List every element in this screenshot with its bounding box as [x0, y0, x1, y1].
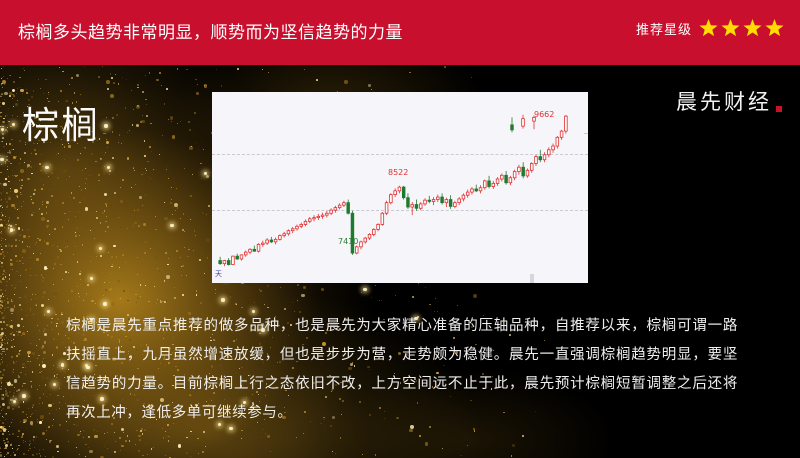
brand-dot-icon [776, 106, 782, 112]
candlestick-series [212, 92, 588, 283]
body-paragraph: 棕榈是晨先重点推荐的做多品种，也是晨先为大家精心准备的压轴品种，自推荐以来，棕榈… [66, 312, 738, 428]
page-title: 棕榈 [22, 95, 100, 149]
brand-name: 晨先财经 [676, 86, 772, 116]
rating-stars [699, 19, 784, 38]
star-icon [765, 19, 784, 38]
star-icon [721, 19, 740, 38]
chart-annotation-mid: 8522 [388, 168, 408, 177]
banner-title: 棕榈多头趋势非常明显，顺势而为坚信趋势的力量 [18, 18, 403, 43]
chart-axis-label: 天 [215, 269, 222, 279]
rating-label: 推荐星级 [636, 19, 692, 38]
brand-logo: 晨先财经 [676, 86, 782, 116]
chart-annotation-high: 9662 [534, 110, 554, 119]
star-icon [699, 19, 718, 38]
header-banner: 棕榈多头趋势非常明显，顺势而为坚信趋势的力量 推荐星级 [0, 0, 800, 65]
chart-annotation-low: 7410 [338, 237, 358, 246]
infographic-card: 棕榈多头趋势非常明显，顺势而为坚信趋势的力量 推荐星级 晨先财经 棕榈 9662… [0, 0, 800, 458]
candlestick-chart-panel: 9662 8522 7410 天 [212, 92, 588, 283]
star-icon [743, 19, 762, 38]
chart-scrollbar-handle[interactable] [530, 274, 534, 283]
rating-group: 推荐星级 [636, 19, 784, 38]
